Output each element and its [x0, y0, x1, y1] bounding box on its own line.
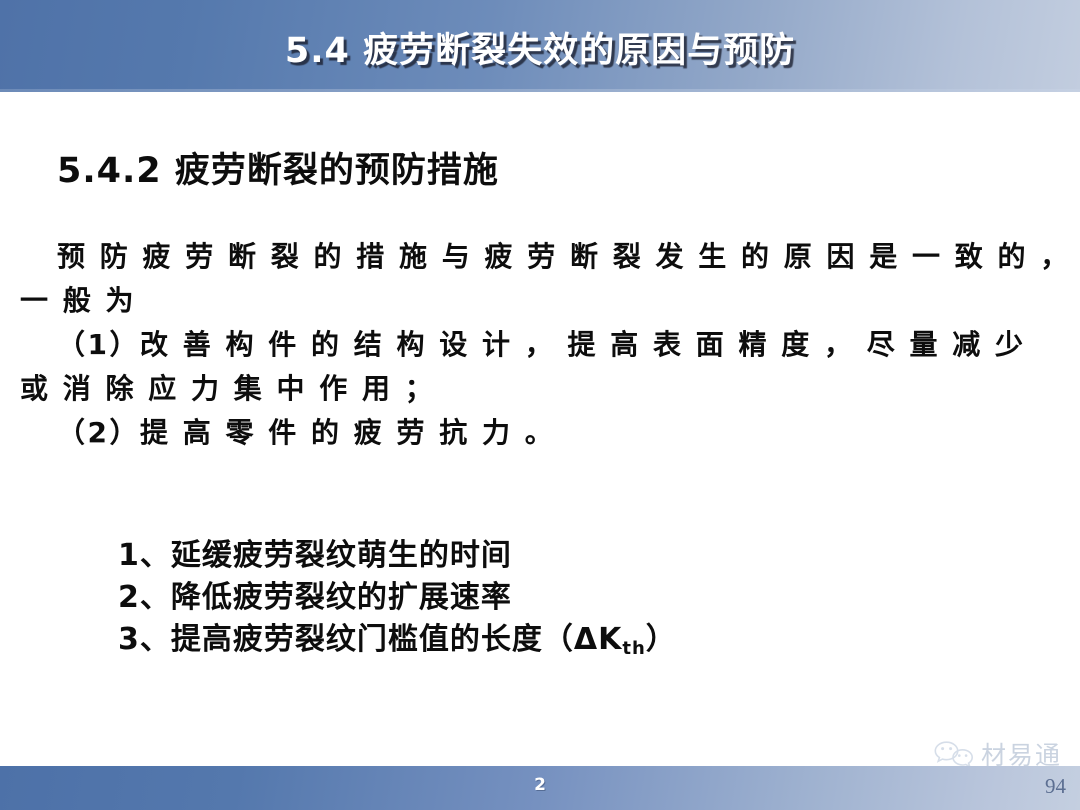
paragraph-line-5: （2）提 高 零 件 的 疲 劳 抗 力 。	[10, 411, 1070, 455]
list-item-3-suffix: ）	[646, 622, 677, 657]
body-paragraph: 预 防 疲 劳 断 裂 的 措 施 与 疲 劳 断 裂 发 生 的 原 因 是 …	[10, 235, 1070, 455]
paragraph-line-3: （1）改 善 构 件 的 结 构 设 计 ， 提 高 表 面 精 度 ， 尽 量…	[10, 323, 1070, 367]
slide-footer-bar: 2	[0, 766, 1080, 810]
slide-number: 2	[0, 775, 1080, 795]
slide-content-area: 5.4.2 疲劳断裂的预防措施 预 防 疲 劳 断 裂 的 措 施 与 疲 劳 …	[0, 92, 1080, 766]
delta-k-subscript: th	[622, 638, 645, 659]
slide-header-bar: 5.4 疲劳断裂失效的原因与预防	[0, 0, 1080, 92]
paragraph-line-2: 一 般 为	[10, 279, 1070, 323]
page-number: 94	[1045, 774, 1066, 799]
list-item: 2、降低疲劳裂纹的扩展速率	[118, 577, 677, 619]
page-title: 5.4 疲劳断裂失效的原因与预防	[0, 22, 1080, 73]
list-item: 3、提高疲劳裂纹门槛值的长度（ΔKth）	[118, 619, 677, 665]
section-heading: 5.4.2 疲劳断裂的预防措施	[57, 142, 499, 193]
paragraph-line-1: 预 防 疲 劳 断 裂 的 措 施 与 疲 劳 断 裂 发 生 的 原 因 是 …	[10, 235, 1070, 279]
list-item-3-prefix: 3、提高疲劳裂纹门槛值的长度（	[118, 622, 574, 657]
paragraph-line-4: 或 消 除 应 力 集 中 作 用 ；	[10, 367, 1070, 411]
delta-k-symbol: ΔK	[574, 622, 622, 657]
measures-list: 1、延缓疲劳裂纹萌生的时间 2、降低疲劳裂纹的扩展速率 3、提高疲劳裂纹门槛值的…	[118, 535, 677, 665]
list-item: 1、延缓疲劳裂纹萌生的时间	[118, 535, 677, 577]
